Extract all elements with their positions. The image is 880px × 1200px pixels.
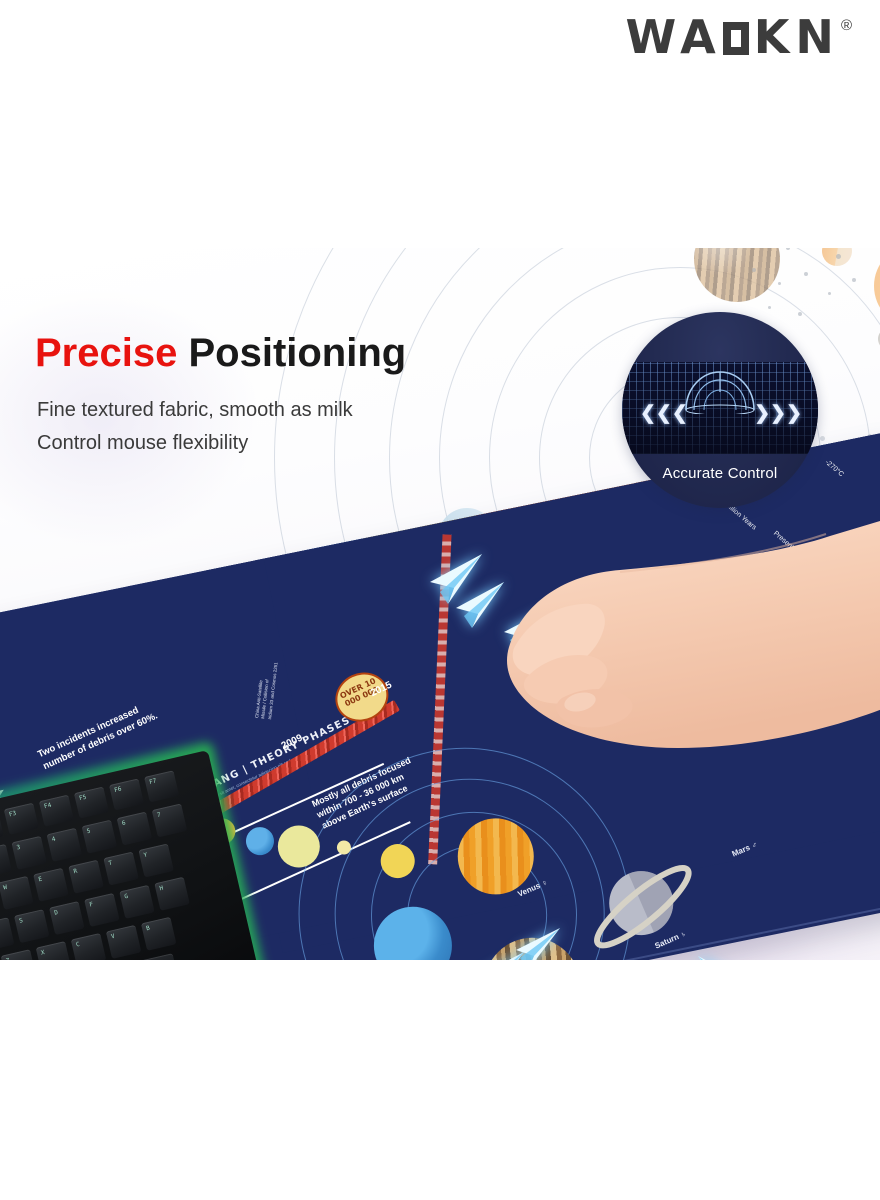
brand-letters-before: WA xyxy=(626,14,722,60)
glow-arrow-left-icon xyxy=(508,924,566,960)
hero-subline-2: Control mouse flexibility xyxy=(37,428,406,459)
accurate-control-callout: ❮❮❮ ❯❯❯ Accurate Control xyxy=(622,312,818,508)
registered-trademark-icon: ® xyxy=(841,18,852,33)
hand xyxy=(470,516,880,806)
brand-header: WA KN ® xyxy=(0,0,880,248)
product-photo-band: Precise Positioning Fine textured fabric… xyxy=(0,248,880,960)
brand-wordmark: WA KN xyxy=(626,14,840,60)
chevron-right-icon: ❯❯❯ xyxy=(754,404,802,423)
brand-letters-after: KN xyxy=(754,14,840,60)
page-title: Precise Positioning xyxy=(35,332,406,375)
hero-headline-block: Precise Positioning Fine textured fabric… xyxy=(35,332,406,459)
headline-accent-word: Precise xyxy=(35,331,177,375)
callout-label: Accurate Control xyxy=(622,465,818,482)
brand-logo: WA KN ® xyxy=(626,14,853,60)
chevron-left-icon: ❮❮❮ xyxy=(640,404,688,423)
wireframe-mouse-icon xyxy=(680,366,760,414)
watermark-asteroid-dots xyxy=(740,248,880,324)
headline-plain-word: Positioning xyxy=(188,331,406,375)
brand-square-o-icon xyxy=(723,22,749,55)
glow-arrow-right-icon xyxy=(690,950,756,960)
footer-whitespace xyxy=(0,960,880,1200)
hero-subline-1: Fine textured fabric, smooth as milk xyxy=(37,395,406,426)
